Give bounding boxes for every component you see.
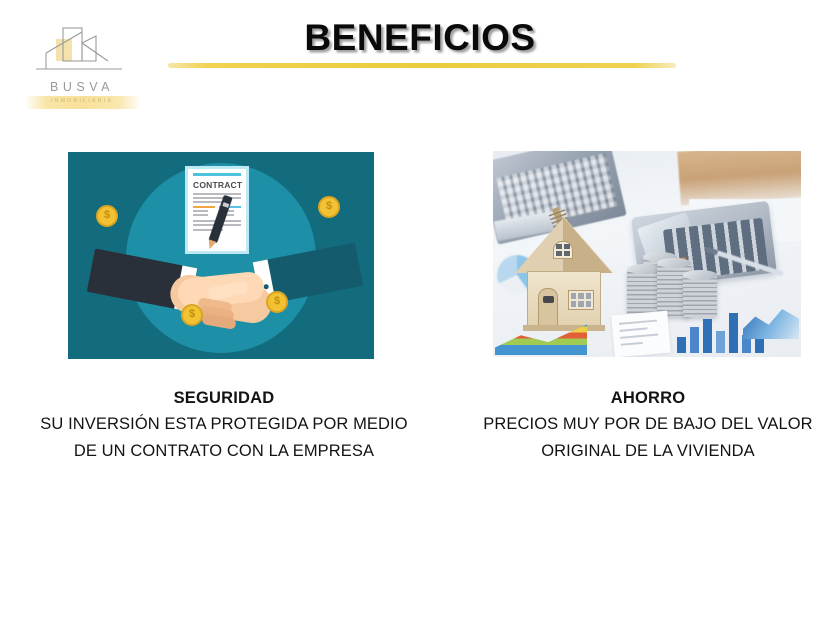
handshake-icon	[164, 274, 278, 336]
page-title: BENEFICIOS	[0, 17, 840, 59]
benefit-body: SU INVERSIÓN ESTA PROTEGIDA POR MEDIO DE…	[38, 411, 410, 465]
wooden-board	[677, 151, 801, 206]
coin-icon: $	[181, 304, 203, 326]
benefit-image-ahorro	[493, 151, 801, 357]
benefit-caption-ahorro: AHORRO PRECIOS MUY POR DE BAJO DEL VALOR…	[462, 386, 834, 465]
logo-tagline: INMOBILIARIA	[22, 95, 142, 108]
coin-icon: $	[96, 205, 118, 227]
house-model-savings-photo	[493, 151, 801, 357]
benefit-heading: SEGURIDAD	[38, 386, 410, 410]
logo-wordmark: BUSVA	[22, 80, 142, 94]
contract-label: CONTRACT	[193, 180, 241, 190]
coin-icon: $	[318, 196, 340, 218]
benefit-image-seguridad: CONTRACT	[68, 152, 374, 359]
slide-beneficios: BUSVA INMOBILIARIA BENEFICIOS CONTRACT	[0, 0, 840, 630]
receipt-paper	[611, 311, 670, 357]
coin-stack	[627, 269, 661, 317]
handshake-contract-illustration: CONTRACT	[68, 152, 374, 359]
benefit-heading: AHORRO	[462, 386, 834, 410]
benefit-body: PRECIOS MUY POR DE BAJO DEL VALOR ORIGIN…	[462, 411, 834, 465]
title-underline-rule	[168, 63, 676, 68]
house-model-icon	[513, 211, 613, 329]
coin-icon: $	[266, 291, 288, 313]
benefit-caption-seguridad: SEGURIDAD SU INVERSIÓN ESTA PROTEGIDA PO…	[38, 386, 410, 465]
